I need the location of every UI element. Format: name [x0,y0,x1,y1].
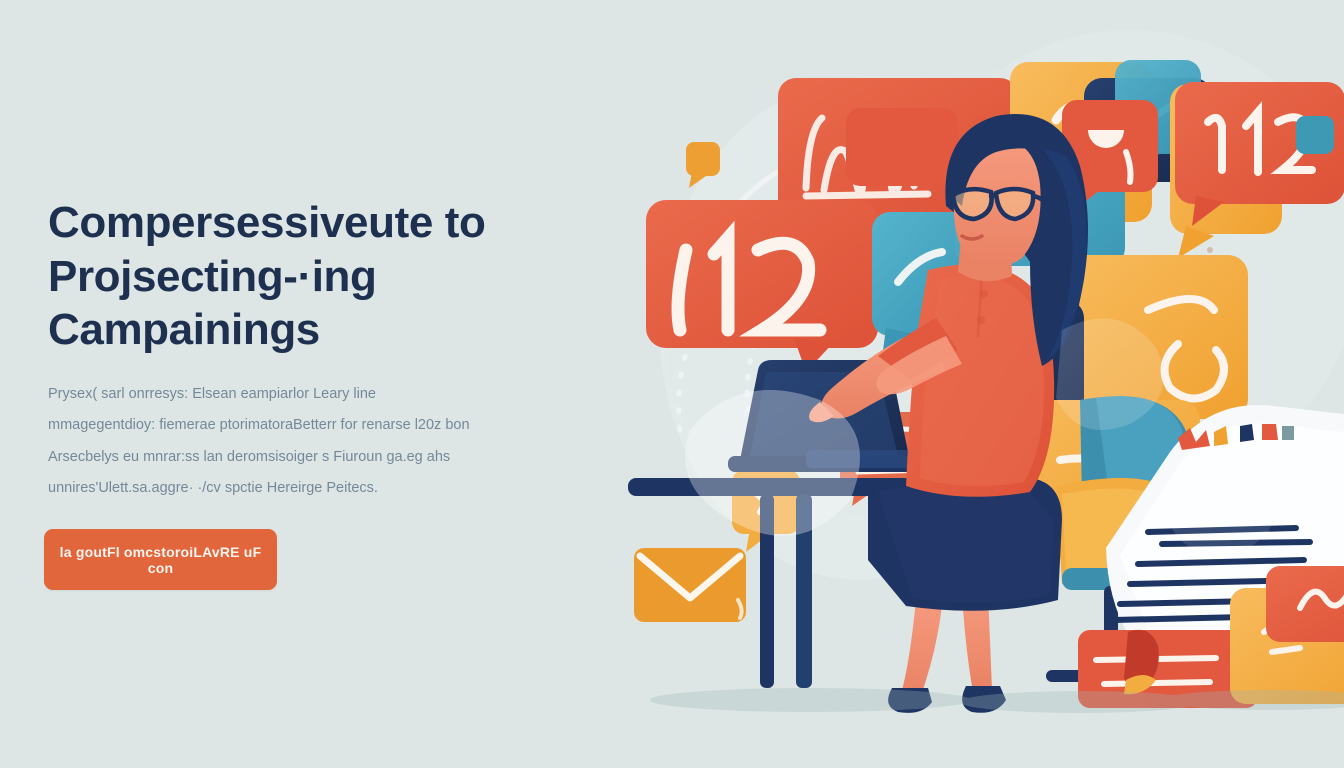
hero-paragraph: Prysex( sarl onrresys: Elsean eampiarlor… [48,383,548,500]
speech-card-coral-chart [846,108,958,186]
paragraph-line-2: mmagegentdioy: fiemerae ptorimatoraBette… [48,414,548,436]
headline-line-2: Projsecting-·ing [48,250,568,304]
speech-card-coral-doc [1266,566,1344,642]
cta-button[interactable]: la goutFl omcstoroiLAvRE uF con [44,529,277,590]
paragraph-line-4: unnires'Ulett.sa.aggre· ·/cv spctie Here… [48,477,548,499]
page-title: Compersessiveute to Projsecting-·ing Cam… [48,196,568,357]
hero-illustration [610,0,1344,768]
headline-line-1: Compersessiveute to [48,196,568,250]
paragraph-line-1: Prysex( sarl onrresys: Elsean eampiarlor… [48,383,548,405]
illustration-svg [610,0,1344,768]
headline-line-3: Campainings [48,303,568,357]
paragraph-line-3: Arsecbelys eu mnrar:ss lan deromsisoiger… [48,446,548,468]
hero-banner: Compersessiveute to Projsecting-·ing Cam… [0,0,1344,768]
envelope-icon [634,548,746,622]
hero-copy-block: Compersessiveute to Projsecting-·ing Cam… [48,196,568,509]
speech-card-teal-tiny [1296,116,1334,154]
speech-card-coral-12 [646,200,878,372]
